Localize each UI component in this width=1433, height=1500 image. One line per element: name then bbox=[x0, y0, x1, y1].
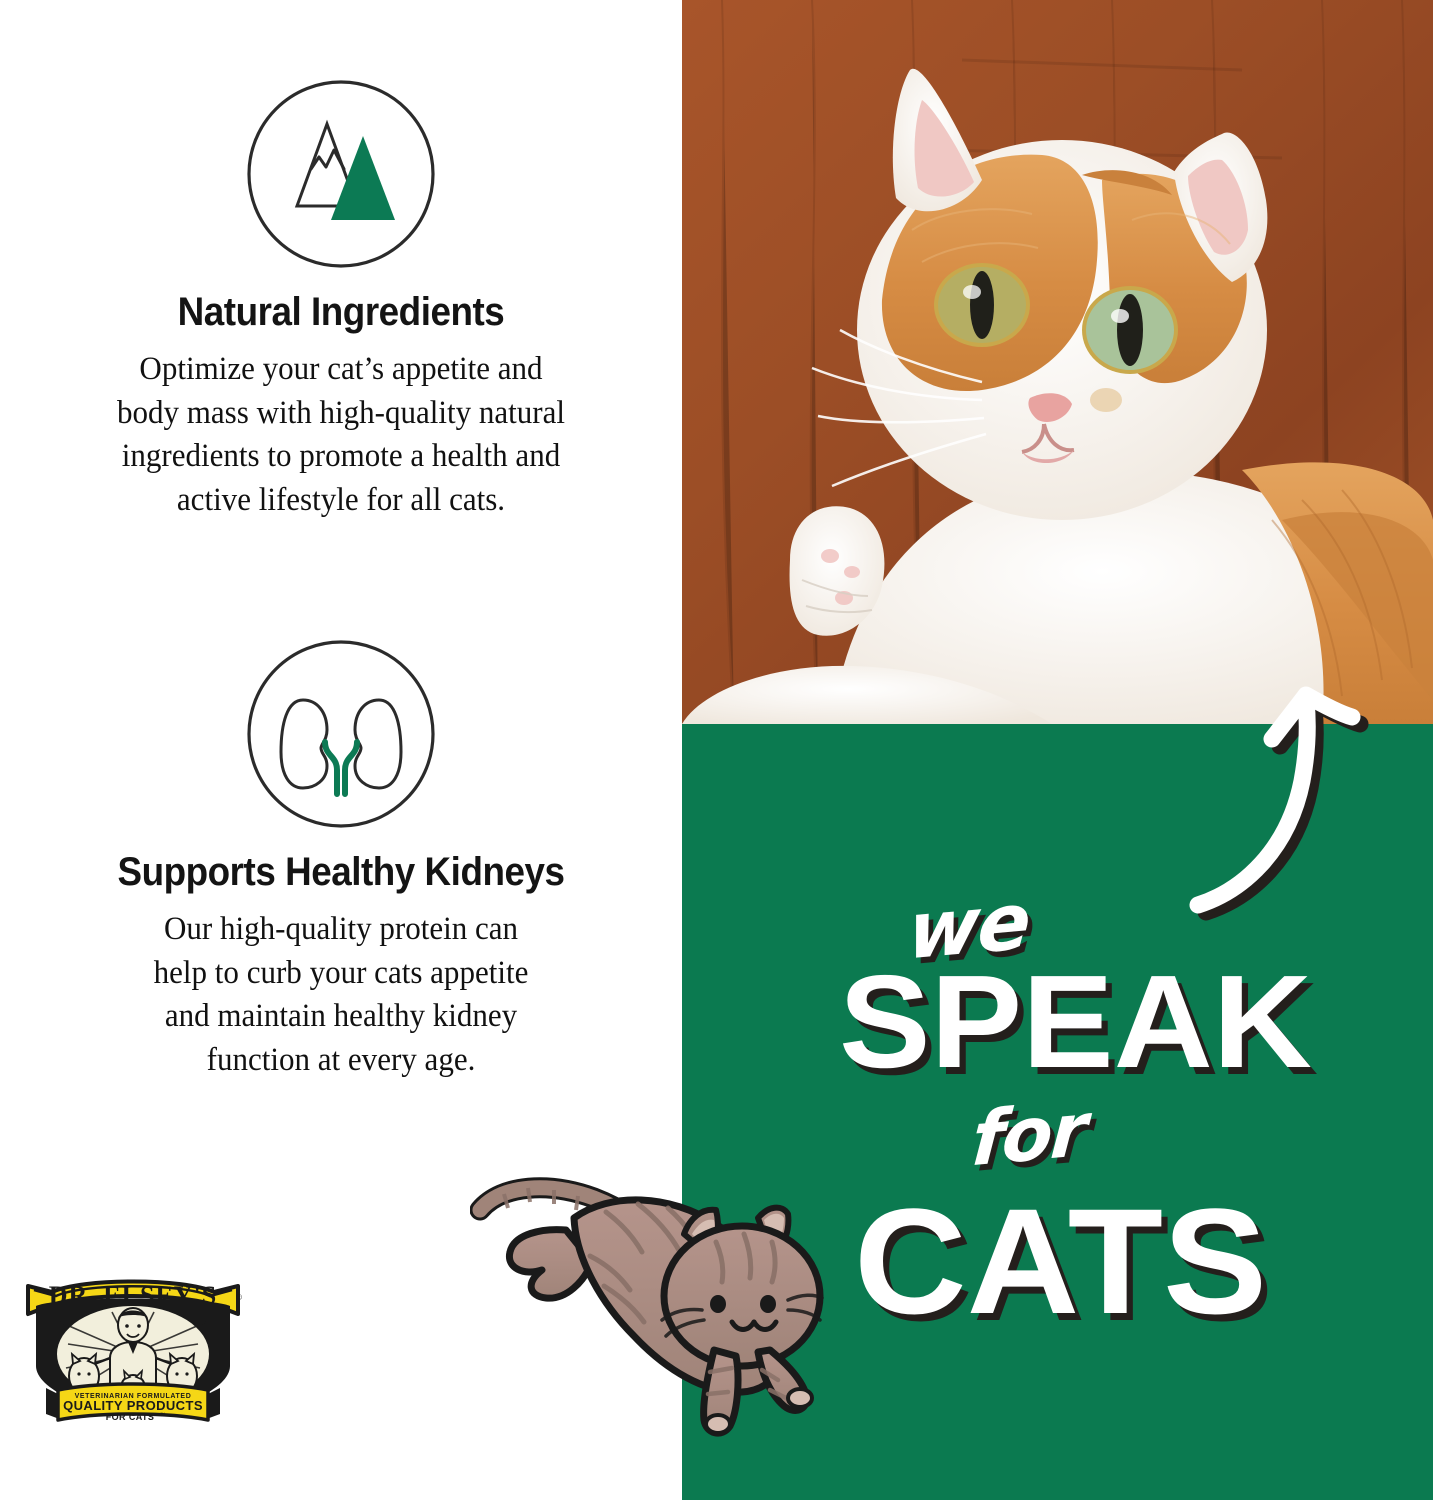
feature-body-line: Our high-quality protein can bbox=[40, 908, 642, 952]
feature-body: Optimize your cat’s appetite and body ma… bbox=[40, 348, 642, 522]
feature-body-line: Optimize your cat’s appetite and bbox=[40, 348, 642, 392]
feature-body-line: function at every age. bbox=[40, 1039, 642, 1083]
dr-elseys-logo-svg: DR. ELSEY'S ® bbox=[22, 1270, 244, 1430]
logo-trademark-mark: ™ bbox=[160, 1412, 165, 1418]
leaping-cat-illustration bbox=[470, 1168, 850, 1440]
feature-body: Our high-quality protein can help to cur… bbox=[40, 908, 642, 1082]
kidney-icon bbox=[245, 638, 437, 830]
product-feature-infographic: Natural Ingredients Optimize your cat’s … bbox=[0, 0, 1433, 1500]
logo-banner-line-2: QUALITY PRODUCTS bbox=[63, 1398, 203, 1413]
feature-title: Supports Healthy Kidneys bbox=[27, 850, 654, 894]
mountain-icon bbox=[245, 78, 437, 270]
feature-title: Natural Ingredients bbox=[27, 290, 654, 334]
feature-body-line: and maintain healthy kidney bbox=[40, 995, 642, 1039]
logo-registered-mark: ® bbox=[236, 1293, 242, 1302]
feature-supports-healthy-kidneys: Supports Healthy Kidneys Our high-qualit… bbox=[0, 638, 682, 1082]
feature-natural-ingredients: Natural Ingredients Optimize your cat’s … bbox=[0, 78, 682, 522]
feature-body-line: ingredients to promote a health and bbox=[40, 435, 642, 479]
feature-body-line: active lifestyle for all cats. bbox=[40, 479, 642, 523]
logo-banner-line-3: FOR CATS bbox=[106, 1412, 155, 1422]
feature-body-line: body mass with high-quality natural bbox=[40, 392, 642, 436]
cat-photo bbox=[682, 0, 1433, 724]
feature-body-line: help to curb your cats appetite bbox=[40, 952, 642, 996]
cat-photo-illustration bbox=[682, 0, 1433, 724]
brand-logo: DR. ELSEY'S ® bbox=[22, 1270, 244, 1430]
